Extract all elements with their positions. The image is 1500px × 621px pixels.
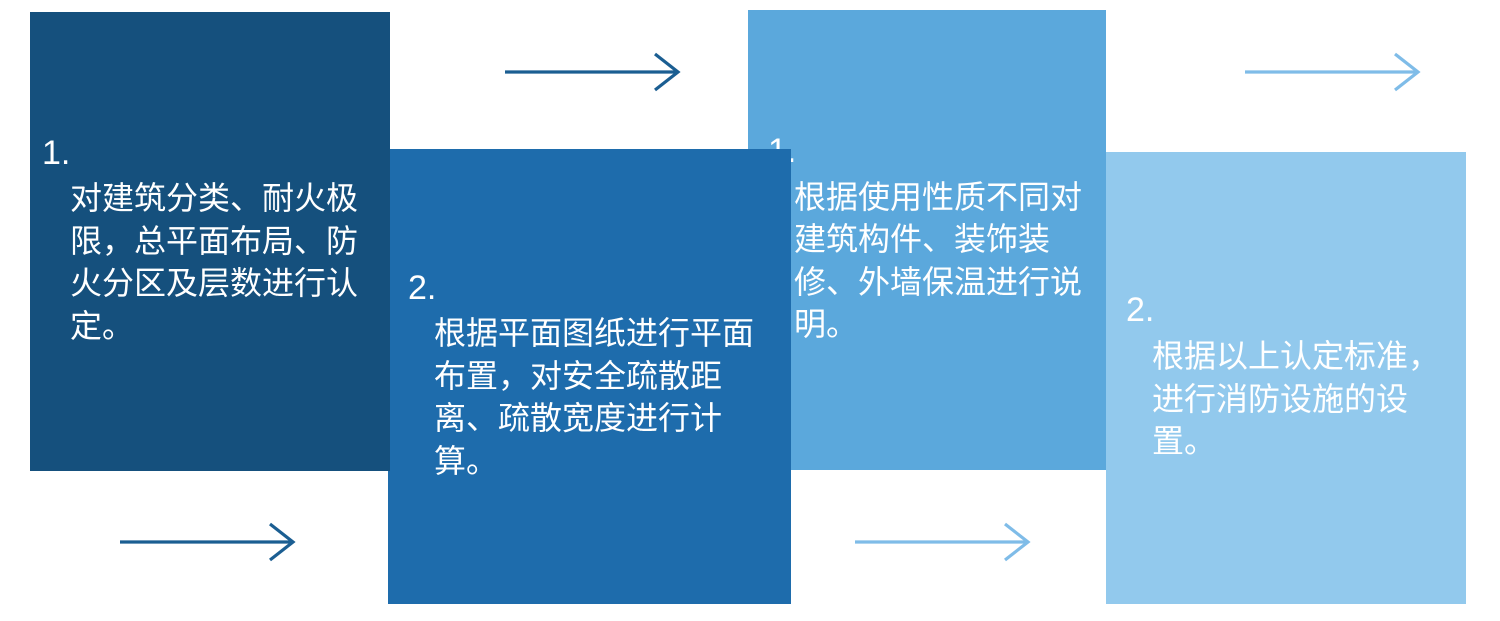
step-text-1: 对建筑分类、耐火极限，总平面布局、防火分区及层数进行认定。 <box>70 177 362 347</box>
step-text-3: 根据使用性质不同对建筑构件、装饰装修、外墙保温进行说明。 <box>794 176 1084 346</box>
arrow-right-icon <box>855 520 1035 564</box>
arrow-right-icon <box>505 50 685 94</box>
arrow-right-icon <box>1245 50 1425 94</box>
step-text-4: 根据以上认定标准，进行消防设施的设置。 <box>1152 335 1444 463</box>
step-text-2: 根据平面图纸进行平面布置，对安全疏散距离、疏散宽度进行计算。 <box>434 312 763 482</box>
step-number-1: 1. <box>42 136 362 172</box>
process-step-card-1[interactable]: 1. 对建筑分类、耐火极限，总平面布局、防火分区及层数进行认定。 <box>30 12 390 471</box>
arrow-right-icon <box>120 520 300 564</box>
step-number-2: 2. <box>408 271 763 307</box>
step-number-3: 1. <box>768 134 1084 170</box>
process-step-card-3[interactable]: 1. 根据使用性质不同对建筑构件、装饰装修、外墙保温进行说明。 <box>748 10 1106 470</box>
process-diagram: 1. 对建筑分类、耐火极限，总平面布局、防火分区及层数进行认定。 2. 根据平面… <box>0 0 1500 621</box>
step-number-4: 2. <box>1126 293 1444 329</box>
process-step-card-4[interactable]: 2. 根据以上认定标准，进行消防设施的设置。 <box>1106 152 1466 604</box>
process-step-card-2[interactable]: 2. 根据平面图纸进行平面布置，对安全疏散距离、疏散宽度进行计算。 <box>388 149 791 604</box>
